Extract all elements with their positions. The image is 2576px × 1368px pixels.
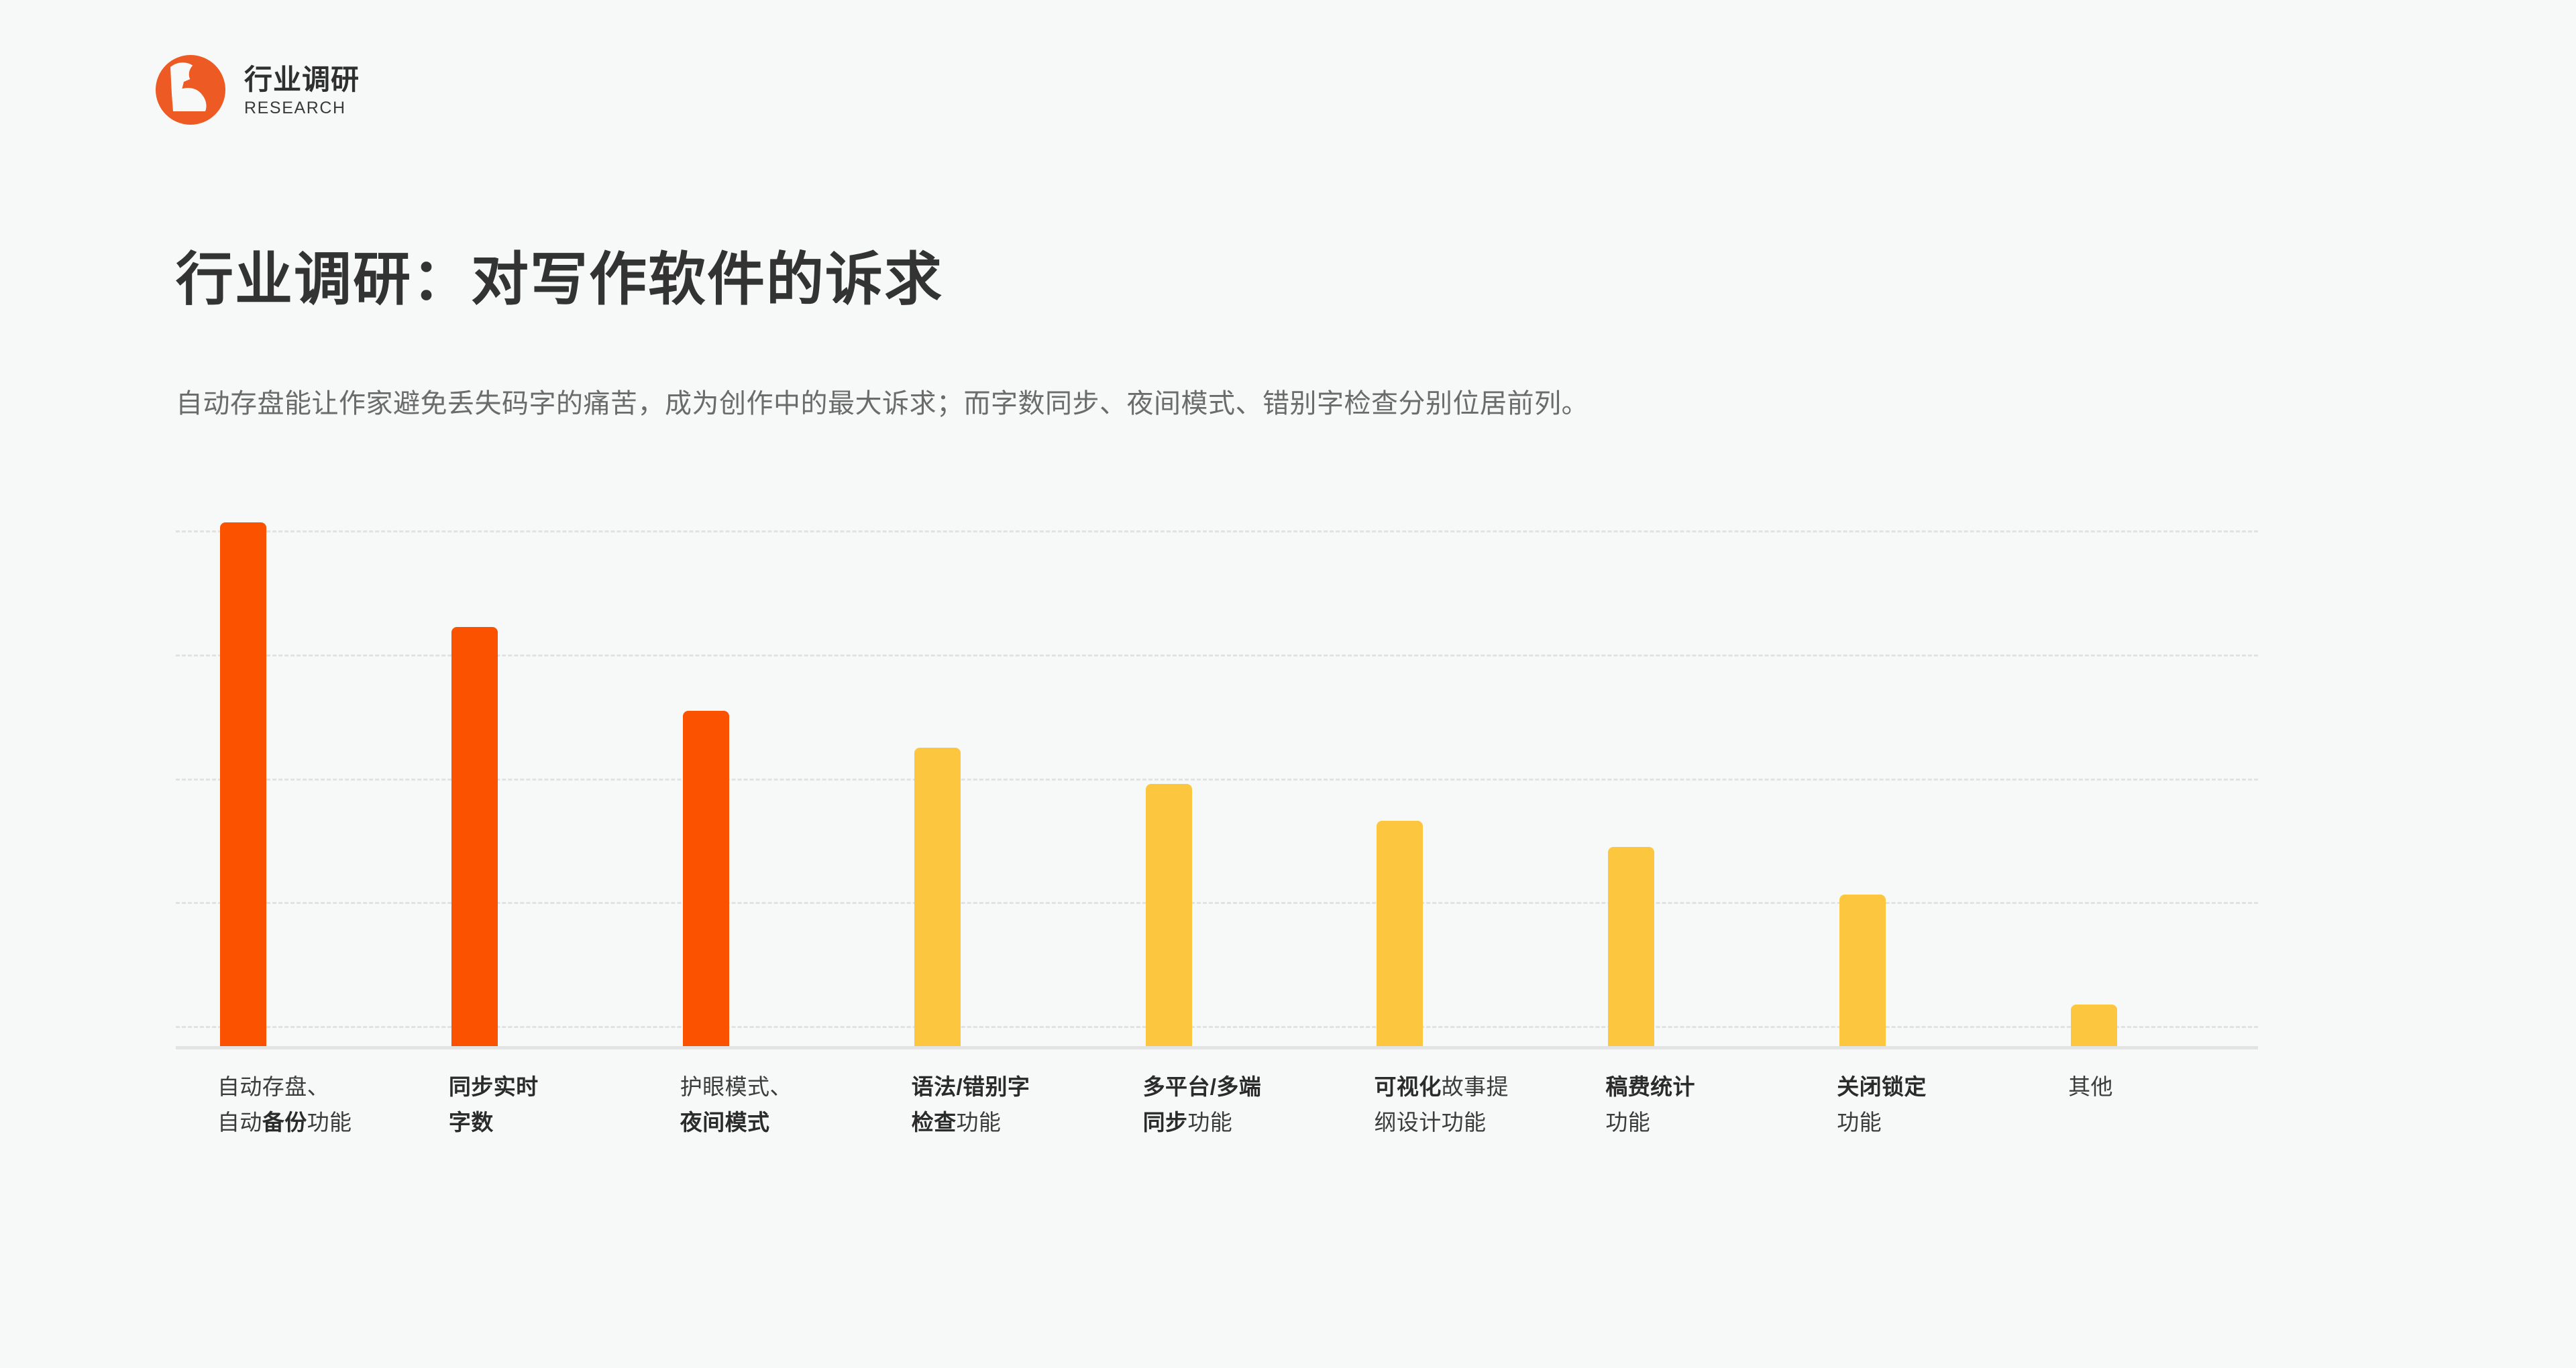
chart-bars (176, 510, 2258, 1046)
bar[interactable] (2071, 1005, 2117, 1046)
bar-slot (2027, 510, 2258, 1046)
x-axis-label: 同步实时字数 (407, 1069, 639, 1141)
bar[interactable] (1839, 895, 1886, 1046)
bar[interactable] (1377, 821, 1423, 1046)
bar-slot (1564, 510, 1795, 1046)
chart-plot-area (176, 510, 2258, 1046)
x-axis-label: 其他 (2027, 1069, 2258, 1141)
brand-text: 行业调研 RESEARCH (244, 63, 360, 117)
x-axis-label: 护眼模式、夜间模式 (639, 1069, 870, 1141)
bar[interactable] (1146, 784, 1192, 1046)
brand-name-en: RESEARCH (244, 99, 360, 117)
chart-x-axis-labels: 自动存盘、自动备份功能同步实时字数护眼模式、夜间模式语法/错别字检查功能多平台/… (176, 1069, 2258, 1141)
bar-slot (1795, 510, 2027, 1046)
x-axis-label: 语法/错别字检查功能 (870, 1069, 1102, 1141)
chart-x-axis-line (176, 1046, 2258, 1049)
bar-slot (1102, 510, 1333, 1046)
x-axis-label: 稿费统计功能 (1564, 1069, 1795, 1141)
bird-in-circle-logo-icon (156, 55, 225, 125)
bar-slot (176, 510, 407, 1046)
bar[interactable] (451, 627, 498, 1046)
bar-slot (1332, 510, 1564, 1046)
brand-name-cn: 行业调研 (244, 66, 360, 95)
brand-logo-block: 行业调研 RESEARCH (156, 55, 360, 125)
bar[interactable] (914, 748, 961, 1046)
bar-slot (639, 510, 870, 1046)
bar-chart (176, 510, 2258, 791)
x-axis-label: 可视化故事提纲设计功能 (1332, 1069, 1564, 1141)
bar[interactable] (1608, 847, 1654, 1046)
bar-slot (407, 510, 639, 1046)
bar[interactable] (683, 711, 729, 1046)
bar-slot (870, 510, 1102, 1046)
x-axis-label: 多平台/多端同步功能 (1102, 1069, 1333, 1141)
page-title: 行业调研：对写作软件的诉求 (176, 247, 943, 313)
x-axis-label: 自动存盘、自动备份功能 (176, 1069, 407, 1141)
x-axis-label: 关闭锁定功能 (1795, 1069, 2027, 1141)
bar[interactable] (220, 522, 266, 1046)
page-subtitle: 自动存盘能让作家避免丢失码字的痛苦，成为创作中的最大诉求；而字数同步、夜间模式、… (176, 386, 1589, 421)
